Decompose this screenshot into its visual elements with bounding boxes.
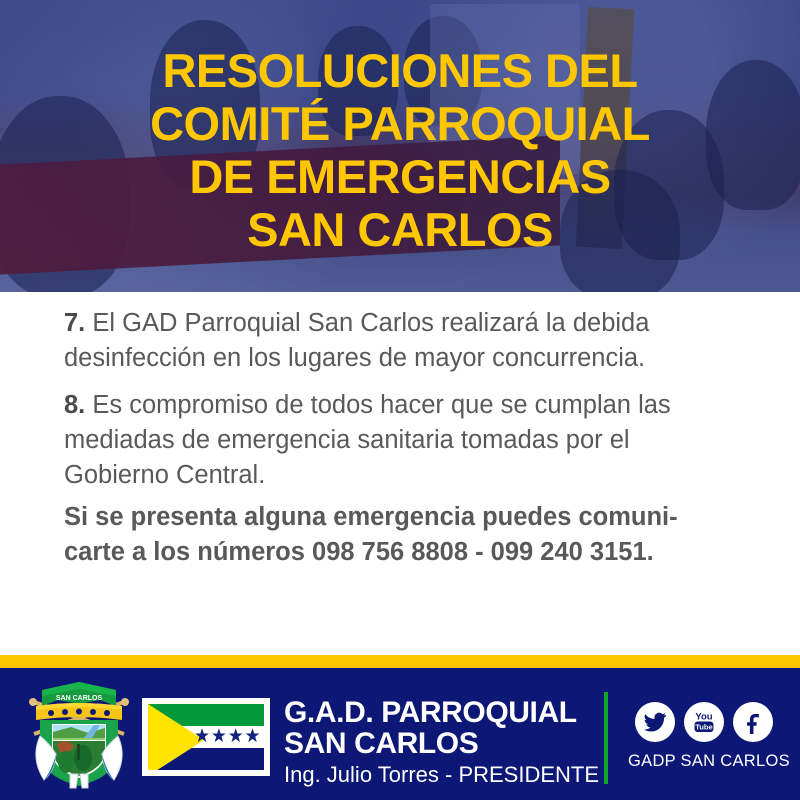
resolution-number-7: 7. bbox=[64, 309, 85, 337]
resolution-item-8: 8. Es compromiso de todos hacer que se c… bbox=[64, 388, 740, 493]
youtube-icon[interactable]: You Tube bbox=[684, 702, 724, 742]
resolution-text-7: El GAD Parroquial San Carlos realizará l… bbox=[64, 309, 649, 372]
footer-org-block: G.A.D. PARROQUIAL SAN CARLOS Ing. Julio … bbox=[284, 697, 604, 789]
svg-text:Tube: Tube bbox=[695, 723, 713, 732]
coat-of-arms-icon: SAN CARLOS bbox=[26, 676, 132, 790]
page-title-line-1: RESOLUCIONES DEL bbox=[0, 44, 800, 97]
twitter-icon[interactable] bbox=[635, 702, 675, 742]
social-handle: GADP SAN CARLOS bbox=[628, 752, 780, 771]
resolution-item-7: 7. El GAD Parroquial San Carlos realizar… bbox=[64, 306, 740, 376]
emergency-notice-line-2: carte a los números 098 756 8808 - 099 2… bbox=[64, 535, 736, 570]
page-title-line-2: COMITÉ PARROQUIAL bbox=[0, 97, 800, 150]
svg-text:SAN CARLOS: SAN CARLOS bbox=[56, 695, 103, 702]
header-hero: RESOLUCIONES DEL COMITÉ PARROQUIAL DE EM… bbox=[0, 0, 800, 292]
social-block: You Tube GADP SAN CARLOS bbox=[628, 702, 780, 782]
emergency-notice: Si se presenta alguna emergencia puedes … bbox=[64, 500, 736, 570]
footer-divider bbox=[604, 692, 608, 784]
facebook-icon[interactable] bbox=[733, 702, 773, 742]
resolution-text-8: Es compromiso de todos hacer que se cump… bbox=[64, 391, 671, 489]
resolution-number-8: 8. bbox=[64, 391, 85, 419]
official-name: Ing. Julio Torres - PRESIDENTE bbox=[284, 760, 604, 789]
poster-root: RESOLUCIONES DEL COMITÉ PARROQUIAL DE EM… bbox=[0, 0, 800, 800]
body-content: 7. El GAD Parroquial San Carlos realizar… bbox=[0, 292, 800, 655]
page-title: RESOLUCIONES DEL COMITÉ PARROQUIAL DE EM… bbox=[0, 44, 800, 256]
footer-accent-bar bbox=[0, 655, 800, 668]
page-title-line-3: DE EMERGENCIAS bbox=[0, 150, 800, 203]
org-name-line-2: SAN CARLOS bbox=[284, 728, 604, 759]
emergency-notice-line-1: Si se presenta alguna emergencia puedes … bbox=[64, 500, 736, 535]
svg-text:You: You bbox=[695, 712, 712, 723]
san-carlos-flag-icon bbox=[142, 698, 270, 776]
page-title-line-4: SAN CARLOS bbox=[0, 203, 800, 256]
org-name-line-1: G.A.D. PARROQUIAL bbox=[284, 697, 604, 728]
